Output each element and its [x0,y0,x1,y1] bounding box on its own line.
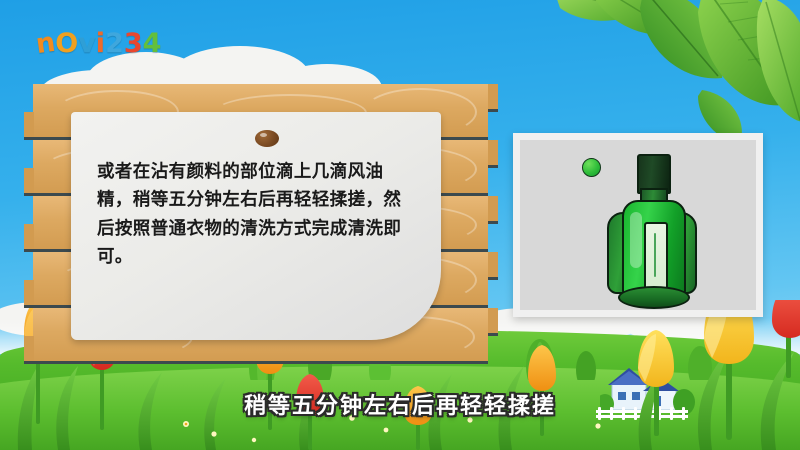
video-subtitle: 稍等五分钟左右后再轻轻揉搓 [0,388,800,420]
bottle-gloss [630,212,642,268]
wooden-sign: 或者在沾有颜料的部位滴上几滴风油精，稍等五分钟左右后再轻轻揉搓，然后按照普通衣物… [33,84,488,364]
logo-letter-5: 3 [124,28,143,59]
notch-right-1 [488,140,498,168]
notch-left-2 [24,168,34,196]
notch-right-2 [488,196,498,224]
product-photo-inner [520,140,756,310]
bottle-base [618,286,690,309]
instruction-text: 或者在沾有颜料的部位滴上几滴风油精，稍等五分钟左右后再轻轻揉搓，然后按照普通衣物… [97,158,417,271]
leaf-cluster [552,0,800,152]
notch-left-5 [24,336,34,364]
bottle-label [644,222,668,292]
notch-left-4 [24,280,34,308]
logo-letter-1: O [55,28,78,59]
notch-right-3 [488,252,498,280]
paper-note: 或者在沾有颜料的部位滴上几滴风油精，稍等五分钟左右后再轻轻揉搓，然后按照普通衣物… [71,112,441,340]
bottle-body [622,200,686,296]
logo-letter-4: 2 [105,28,124,59]
essential-oil-bottle [606,154,698,309]
channel-logo: nOvi234 [36,28,161,62]
thumbtack-icon [255,130,279,147]
logo-letter-0: n [34,27,57,60]
notch-left-1 [24,112,34,140]
notch-right-4 [488,308,498,336]
oil-droplet-icon [582,158,601,177]
scene-root: 或者在沾有颜料的部位滴上几滴风油精，稍等五分钟左右后再轻轻揉搓，然后按照普通衣物… [0,0,800,450]
logo-letter-6: 4 [143,28,162,59]
logo-letter-2: v [78,28,96,59]
notch-right-0 [488,84,498,112]
notch-left-3 [24,224,34,252]
product-photo-panel [513,133,763,317]
logo-letter-3: i [96,28,105,59]
